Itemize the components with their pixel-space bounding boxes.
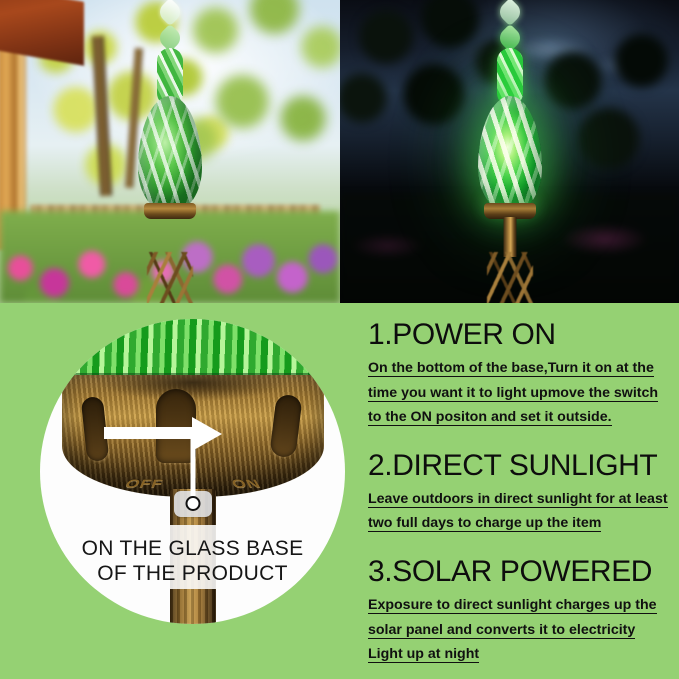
step-2-line-1: Leave outdoors in direct sunlight for at…	[368, 491, 668, 508]
on-label: ON	[230, 478, 264, 491]
step-3-line-3: Light up at night	[368, 646, 479, 663]
instructions-panel: OFF ON ON THE GLASS BASE OF THE PRODUCT …	[0, 303, 679, 679]
step-1-line-2: time you want it to light upmove the swi…	[368, 385, 658, 402]
step-solar-powered: 3.SOLAR POWERED Exposure to direct sunli…	[368, 554, 668, 667]
photo-comparison-row	[0, 0, 679, 303]
lamp-glass-bulb-illuminated	[478, 96, 542, 212]
night-solar-lamp	[455, 0, 565, 303]
steps-list: 1.POWER ON On the bottom of the base,Tur…	[368, 311, 668, 673]
lamp-glass-bulb	[138, 96, 202, 212]
step-2-title: 2.DIRECT SUNLIGHT	[368, 448, 668, 483]
step-1-title: 1.POWER ON	[368, 317, 668, 352]
closeup-caption: ON THE GLASS BASE OF THE PRODUCT	[40, 537, 345, 587]
step-1-line-3: to the ON positon and set it outside.	[368, 409, 612, 426]
step-1-line-1: On the bottom of the base,Turn it on at …	[368, 360, 654, 377]
step-3-body: Exposure to direct sunlight charges up t…	[368, 593, 668, 666]
arrow-head-icon	[192, 417, 222, 451]
base-switch-closeup: OFF ON ON THE GLASS BASE OF THE PRODUCT	[40, 319, 345, 624]
lamp-bronze-stem	[503, 217, 516, 257]
day-solar-lamp	[115, 0, 225, 303]
step-3-line-2: solar panel and converts it to electrici…	[368, 622, 635, 639]
switch-location-marker	[185, 496, 200, 511]
lamp-top-finial	[156, 0, 184, 26]
step-direct-sunlight: 2.DIRECT SUNLIGHT Leave outdoors in dire…	[368, 448, 668, 536]
daytime-garden-photo	[0, 0, 340, 303]
caption-line-2: OF THE PRODUCT	[40, 562, 345, 587]
arrow-right-icon	[104, 427, 198, 439]
lamp-spiral-stake	[487, 252, 533, 303]
step-3-title: 3.SOLAR POWERED	[368, 554, 668, 589]
step-3-line-1: Exposure to direct sunlight charges up t…	[368, 597, 657, 614]
step-2-body: Leave outdoors in direct sunlight for at…	[368, 487, 668, 536]
lamp-spiral-stake	[147, 252, 193, 303]
step-power-on: 1.POWER ON On the bottom of the base,Tur…	[368, 317, 668, 430]
step-1-body: On the bottom of the base,Turn it on at …	[368, 356, 668, 429]
nighttime-glowing-photo	[340, 0, 679, 303]
lamp-top-finial	[495, 0, 523, 26]
caption-line-1: ON THE GLASS BASE	[40, 537, 345, 562]
product-infographic: OFF ON ON THE GLASS BASE OF THE PRODUCT …	[0, 0, 679, 679]
step-2-line-2: two full days to charge up the item	[368, 515, 601, 532]
off-label: OFF	[122, 478, 165, 491]
lamp-bronze-stem	[164, 217, 177, 257]
